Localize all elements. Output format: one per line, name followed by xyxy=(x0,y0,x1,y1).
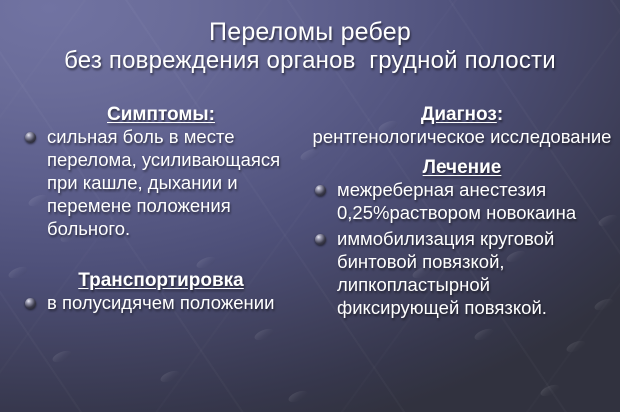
symptoms-list: сильная боль в месте перелома, усиливающ… xyxy=(22,126,300,241)
presentation-slide: Переломы ребер без повреждения органов г… xyxy=(0,0,620,412)
list-item: иммобилизация круговой бинтовой повязкой… xyxy=(312,228,612,320)
list-item: в полусидячем положении xyxy=(22,292,300,315)
slide-title: Переломы ребер без повреждения органов г… xyxy=(0,18,620,75)
left-content-column: Симптомы: сильная боль в месте перелома,… xyxy=(22,104,300,318)
transport-list: в полусидячем положении xyxy=(22,292,300,315)
sphere-bullet-icon xyxy=(315,234,326,245)
sphere-bullet-icon xyxy=(25,132,36,143)
sphere-bullet-icon xyxy=(25,298,36,309)
symptoms-heading-text: Симптомы: xyxy=(107,104,215,125)
list-item-text: сильная боль в месте перелома, усиливающ… xyxy=(47,126,280,239)
list-item: межреберная анестезия 0,25%раствором нов… xyxy=(312,179,612,225)
right-column-spacer xyxy=(312,149,612,157)
diagnosis-heading: Диагноз: xyxy=(312,104,612,126)
diagnosis-heading-colon: : xyxy=(497,104,503,125)
treatment-heading: Лечение xyxy=(312,157,612,179)
slide-title-line-2: без повреждения органов грудной полости xyxy=(0,47,620,75)
left-column-spacer xyxy=(22,244,300,270)
right-content-column: Диагноз: рентгенологическое исследование… xyxy=(312,104,612,323)
treatment-heading-text: Лечение xyxy=(423,157,502,178)
diagnosis-heading-text: Диагноз xyxy=(421,104,497,125)
list-item-text: иммобилизация круговой бинтовой повязкой… xyxy=(337,228,554,318)
transport-heading: Транспортировка xyxy=(22,270,300,292)
transport-heading-text: Транспортировка xyxy=(78,270,244,291)
list-item-text: межреберная анестезия 0,25%раствором нов… xyxy=(337,179,576,223)
treatment-list: межреберная анестезия 0,25%раствором нов… xyxy=(312,179,612,320)
list-item: сильная боль в месте перелома, усиливающ… xyxy=(22,126,300,241)
diagnosis-text: рентгенологическое исследование xyxy=(312,126,612,149)
sphere-bullet-icon xyxy=(315,185,326,196)
slide-title-line-1: Переломы ребер xyxy=(0,18,620,47)
list-item-text: в полусидячем положении xyxy=(47,292,274,313)
symptoms-heading: Симптомы: xyxy=(22,104,300,126)
